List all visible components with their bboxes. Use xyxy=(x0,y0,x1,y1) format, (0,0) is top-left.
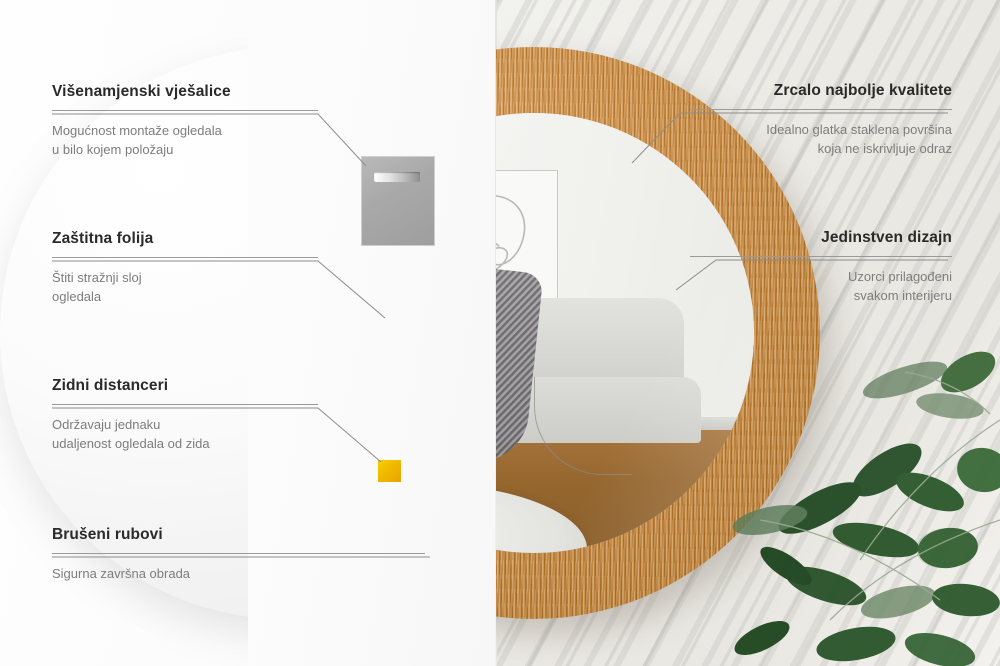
callout-description: Štiti stražnji sloj ogledala xyxy=(52,269,318,307)
callout-rule xyxy=(52,553,425,554)
callout-title: Jedinstven dizajn xyxy=(690,229,952,247)
product-infographic: Višenamjenski vješalice Mogućnost montaž… xyxy=(0,0,1000,666)
callout-title: Zaštitna folija xyxy=(52,230,318,248)
callout-polished-edges: Brušeni rubovi Sigurna završna obrada xyxy=(52,526,425,584)
callout-multipurpose-hangers: Višenamjenski vješalice Mogućnost montaž… xyxy=(52,83,318,160)
callout-title: Zrcalo najbolje kvalitete xyxy=(690,82,952,100)
hanger-slot-icon xyxy=(374,172,420,182)
callout-description: Održavaju jednaku udaljenost ogledala od… xyxy=(52,416,318,454)
callout-title: Zidni distanceri xyxy=(52,377,318,395)
callout-unique-design: Jedinstven dizajn Uzorci prilagođeni sva… xyxy=(690,229,952,306)
callout-rule xyxy=(52,404,318,405)
mirror-glass xyxy=(496,113,754,553)
callout-description: Idealno glatka staklena površina koja ne… xyxy=(690,121,952,159)
callout-title: Višenamjenski vješalice xyxy=(52,83,318,101)
callout-rule xyxy=(690,109,952,110)
wall-spacer-marker xyxy=(378,460,401,482)
callout-rule xyxy=(52,257,318,258)
callout-rule xyxy=(52,110,318,111)
callout-title: Brušeni rubovi xyxy=(52,526,425,544)
callout-rule xyxy=(690,256,952,257)
callout-description: Mogućnost montaže ogledala u bilo kojem … xyxy=(52,122,318,160)
callout-description: Uzorci prilagođeni svakom interijeru xyxy=(690,268,952,306)
callout-protective-film: Zaštitna folija Štiti stražnji sloj ogle… xyxy=(52,230,318,307)
callout-wall-spacers: Zidni distanceri Održavaju jednaku udalj… xyxy=(52,377,318,454)
wall-hanger-marker xyxy=(361,156,435,246)
callout-description: Sigurna završna obrada xyxy=(52,565,425,584)
callout-best-quality-mirror: Zrcalo najbolje kvalitete Idealno glatka… xyxy=(690,82,952,159)
